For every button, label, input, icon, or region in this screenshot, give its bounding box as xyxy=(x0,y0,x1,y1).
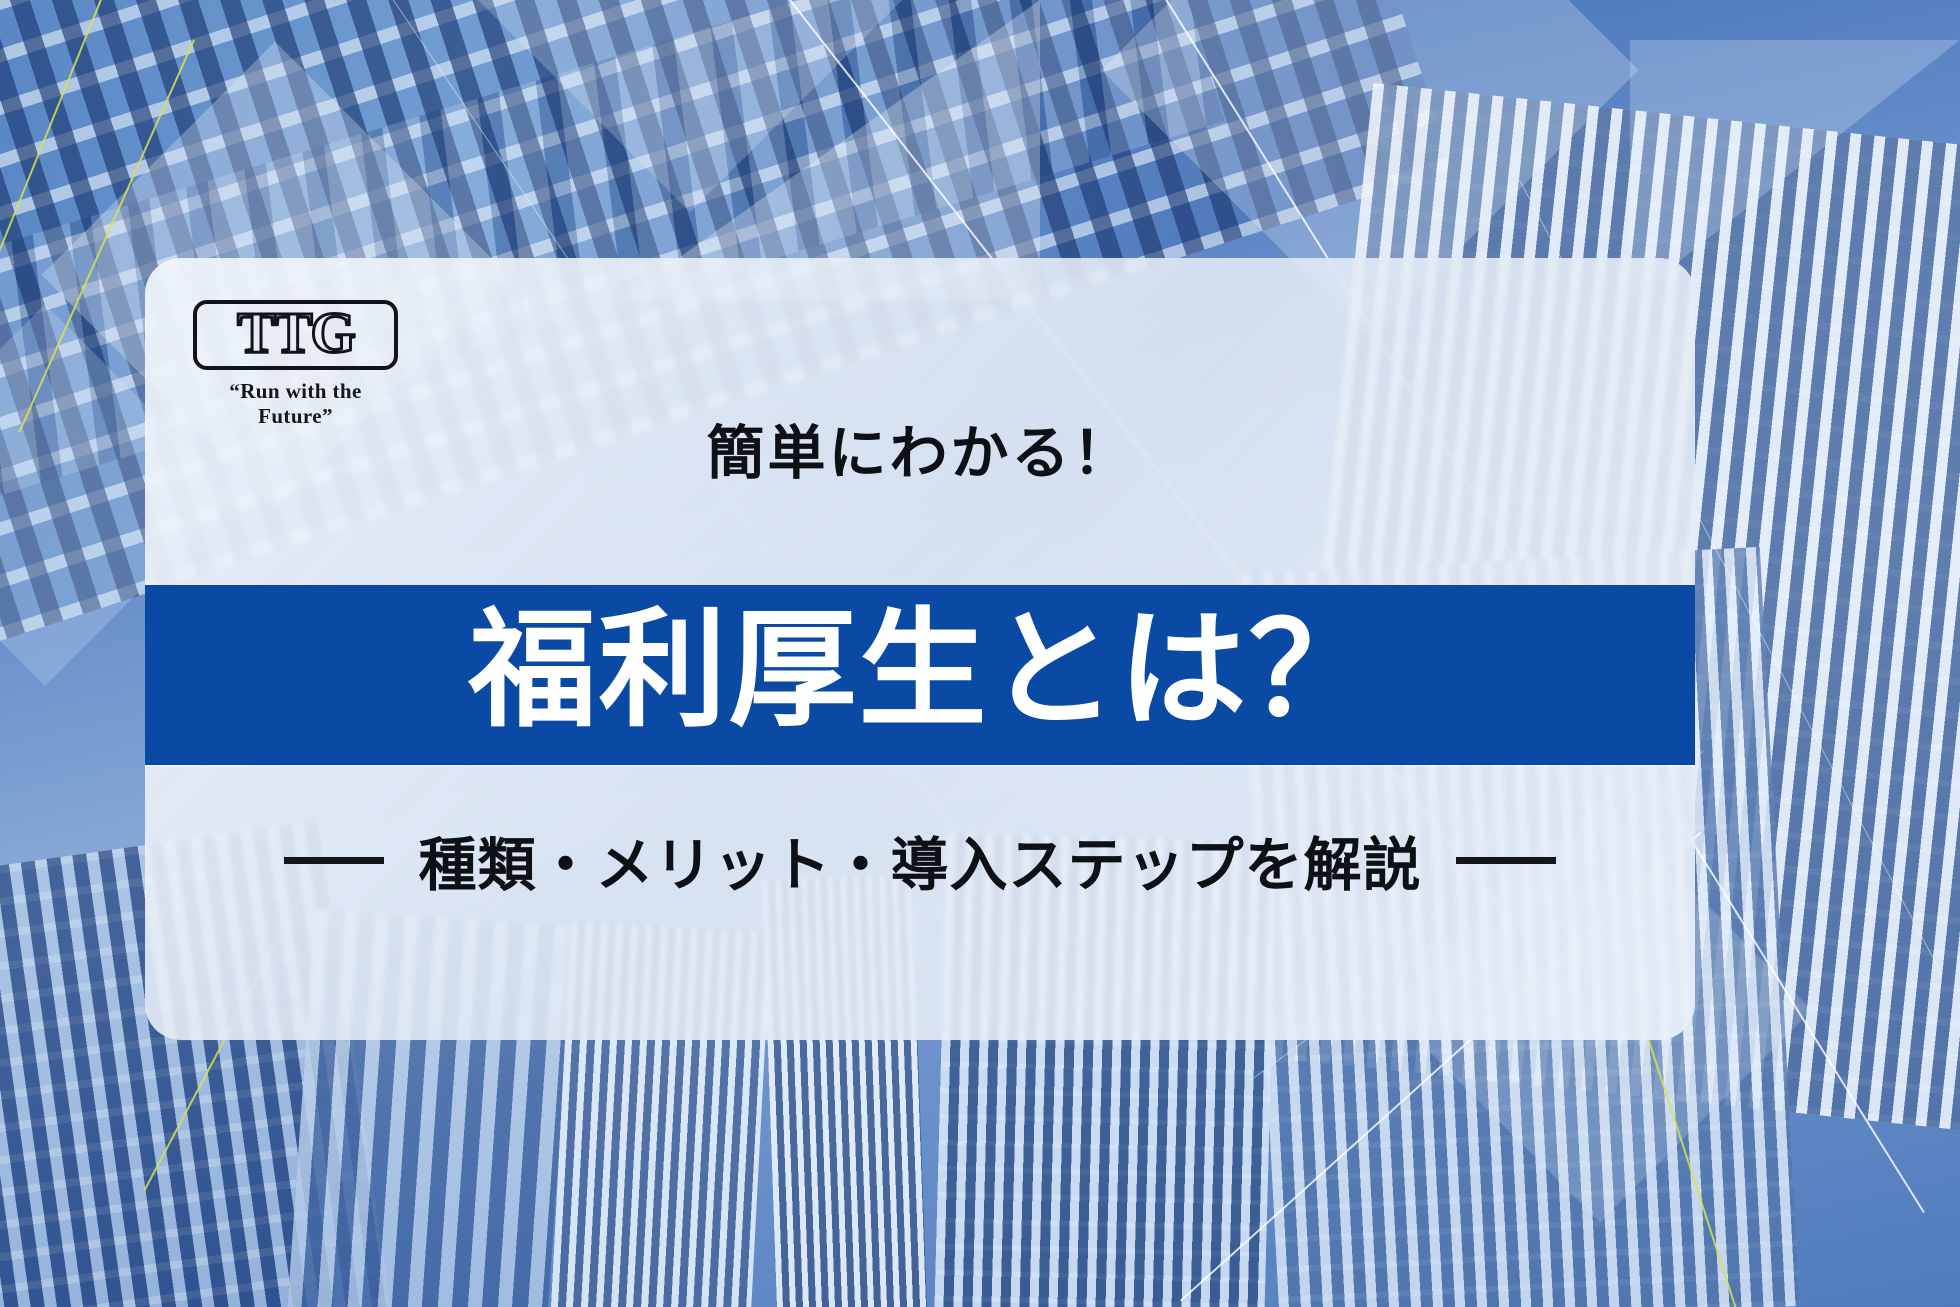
overlay-triangle-1 xyxy=(620,0,1040,300)
hero-subtitle: 種類・メリット・導入ステップを解説 xyxy=(418,818,1421,902)
overlay-triangle-2 xyxy=(1630,40,1960,300)
rule-right-icon xyxy=(1456,857,1556,864)
content-card: TTG “Run with the Future” 簡単にわかる！ 福利厚生とは… xyxy=(145,258,1695,1040)
hero-subtitle-row: 種類・メリット・導入ステップを解説 xyxy=(145,818,1695,902)
hero-banner-image: TTG “Run with the Future” 簡単にわかる！ 福利厚生とは… xyxy=(0,0,1960,1307)
logo-frame: TTG xyxy=(193,300,398,370)
logo-text: TTG xyxy=(237,304,354,362)
hero-title: 福利厚生とは？ xyxy=(468,607,1378,735)
rule-left-icon xyxy=(284,857,384,864)
hero-title-banner: 福利厚生とは？ xyxy=(145,585,1695,765)
hero-eyebrow: 簡単にわかる！ xyxy=(145,406,1695,490)
